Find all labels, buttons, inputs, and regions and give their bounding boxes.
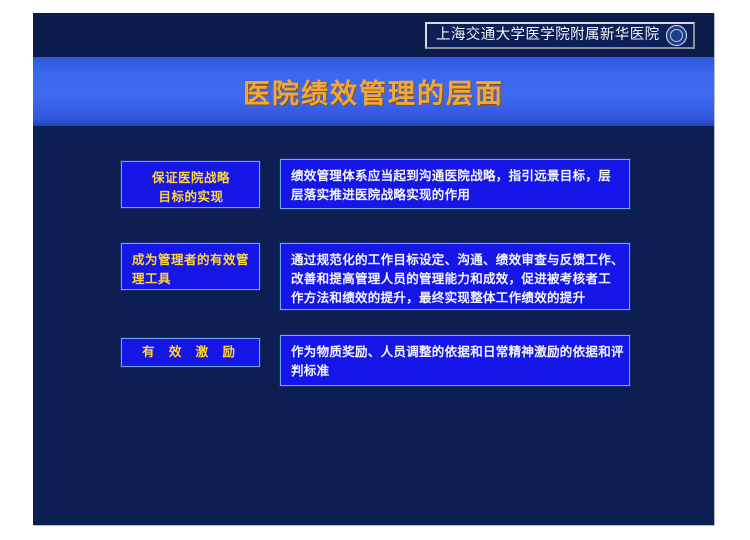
row-2-desc-line-2: 改善和提高管理人员的管理能力和成效，促进被考核者工	[291, 270, 620, 289]
row-1-description-box: 绩效管理体系应当起到沟通医院战略，指引远景目标，层 层落实推进医院战略实现的作用	[280, 159, 630, 209]
slide-top-band: 上海交通大学医学院附属新华医院	[33, 13, 714, 57]
row-2-label-line-2: 理工具	[132, 270, 250, 289]
hospital-nameplate: 上海交通大学医学院附属新华医院	[425, 22, 695, 49]
row-1-desc-line-1: 绩效管理体系应当起到沟通医院战略，指引远景目标，层	[291, 167, 620, 186]
slide-canvas: 上海交通大学医学院附属新华医院 医院绩效管理的层面 保证医院战略 目标的实现 绩…	[33, 13, 714, 525]
hospital-seal-icon	[666, 25, 687, 46]
row-3-description-box: 作为物质奖励、人员调整的依据和日常精神激励的依据和评 判标准	[280, 335, 630, 386]
row-2-description-box: 通过规范化的工作目标设定、沟通、绩效审查与反馈工作、 改善和提高管理人员的管理能…	[280, 243, 630, 310]
row-3-label-box: 有 效 激 励	[121, 338, 260, 367]
row-2-label-line-1: 成为管理者的有效管	[132, 251, 250, 270]
row-2-desc-line-1: 通过规范化的工作目标设定、沟通、绩效审查与反馈工作、	[291, 251, 620, 270]
row-3-label-line-1: 有 效 激 励	[132, 343, 250, 362]
row-1-label-line-1: 保证医院战略	[132, 169, 250, 188]
row-3-desc-line-2: 判标准	[291, 362, 620, 381]
row-1-label-line-2: 目标的实现	[132, 188, 250, 207]
slide-title: 医院绩效管理的层面	[243, 72, 504, 111]
row-2-desc-line-3: 作方法和绩效的提升，最终实现整体工作绩效的提升	[291, 289, 620, 308]
row-3-desc-line-1: 作为物质奖励、人员调整的依据和日常精神激励的依据和评	[291, 343, 620, 362]
hospital-name-text: 上海交通大学医学院附属新华医院	[436, 28, 660, 43]
row-2-label-box: 成为管理者的有效管 理工具	[121, 243, 260, 290]
row-1-label-box: 保证医院战略 目标的实现	[121, 161, 260, 208]
row-1-desc-line-2: 层落实推进医院战略实现的作用	[291, 186, 620, 205]
slide-title-band: 医院绩效管理的层面	[33, 57, 714, 126]
